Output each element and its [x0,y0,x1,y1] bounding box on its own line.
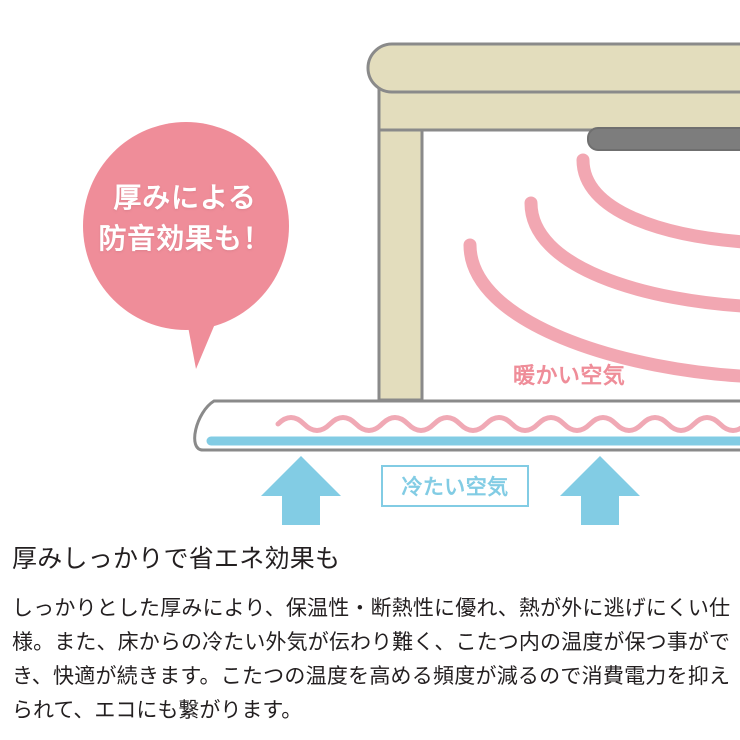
cold-air-arrow-left [261,456,341,525]
copy-heading: 厚みしっかりで省エネ効果も [12,543,730,576]
page-root: 厚みによる 防音効果も！ 暖かい空気 冷たい空気 厚みしっかりで省エネ効果も し… [0,0,740,740]
speech-bubble-text: 厚みによる 防音効果も！ [70,178,300,259]
copy-body: しっかりとした厚みにより、保温性・断熱性に優れ、熱が外に逃げにくい仕様。また、床… [12,592,730,728]
kotatsu-heater-unit [588,128,740,150]
copy-section: 厚みしっかりで省エネ効果も しっかりとした厚みにより、保温性・断熱性に優れ、熱が… [0,525,740,728]
kotatsu-illustration: 厚みによる 防音効果も！ 暖かい空気 冷たい空気 [0,0,740,525]
illustration-svg [0,0,740,525]
floor-mat [195,401,740,450]
kotatsu-table-top [368,44,740,92]
kotatsu-table-leg [379,108,422,400]
warm-air-label: 暖かい空気 [513,358,625,390]
cold-air-label-box: 冷たい空気 [381,465,529,507]
kotatsu-table-apron [379,88,740,130]
heat-arc-1 [583,160,740,243]
speech-bubble-line-2: 防音効果も！ [70,219,300,260]
cold-air-label: 冷たい空気 [383,467,527,505]
heat-arc-group [470,160,740,377]
speech-bubble-line-1: 厚みによる [70,178,300,219]
cold-air-arrow-right [560,456,640,525]
